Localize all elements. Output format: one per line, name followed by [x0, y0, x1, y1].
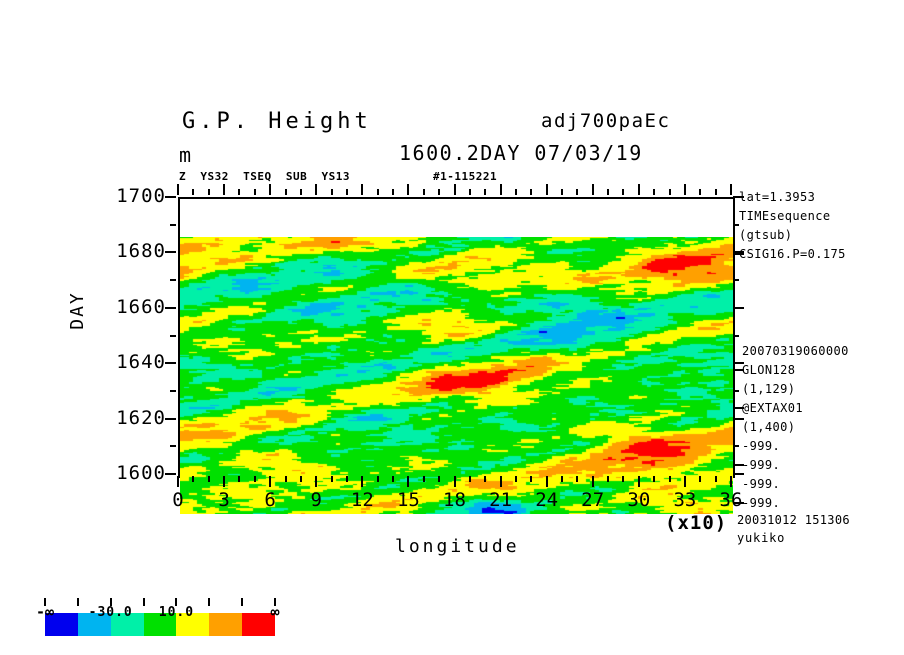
axis-tick [454, 476, 456, 487]
annotation-text: TIMEsequence [739, 209, 831, 223]
axis-tick [653, 476, 655, 482]
heatmap-plot-area [178, 197, 735, 478]
axis-tick [484, 189, 486, 195]
axis-tick [669, 476, 671, 482]
axis-tick [170, 390, 176, 392]
axis-tick [638, 476, 640, 487]
annotation-text: @EXTAX01 [742, 401, 803, 415]
chart-title-variable: G.P. Height [182, 109, 372, 134]
y-tick-label: 1700 [84, 185, 166, 207]
axis-tick [515, 476, 517, 482]
axis-tick [546, 184, 548, 195]
axis-tick [733, 335, 739, 337]
axis-tick [223, 184, 225, 195]
axis-tick [377, 476, 379, 482]
annotation-tick [733, 369, 744, 371]
colorbar-value-label: -30.0 [76, 605, 146, 620]
axis-tick [315, 184, 317, 195]
axis-tick [733, 445, 739, 447]
axis-tick [684, 184, 686, 195]
colorbar-right-infinity: ∞ [263, 603, 287, 621]
axis-tick [576, 476, 578, 482]
axis-tick [607, 189, 609, 195]
footer-timestamp: 20031012 151306 [737, 513, 850, 527]
axis-tick [530, 189, 532, 195]
y-tick-label: 1660 [84, 296, 166, 318]
axis-tick [684, 476, 686, 487]
axis-tick [622, 189, 624, 195]
axis-tick [300, 476, 302, 482]
axis-tick [438, 189, 440, 195]
axis-tick [285, 476, 287, 482]
heatmap-canvas [180, 237, 733, 514]
axis-tick [300, 189, 302, 195]
axis-tick [715, 476, 717, 482]
colorbar-tick [241, 598, 243, 606]
axis-tick [730, 184, 732, 195]
y-tick-label: 1620 [84, 407, 166, 429]
annotation-text: (gtsub) [739, 228, 792, 242]
annotation-tick [733, 196, 744, 198]
axis-tick [715, 189, 717, 195]
axis-tick [254, 189, 256, 195]
axis-tick [592, 476, 594, 487]
axis-tick [561, 189, 563, 195]
axis-tick [361, 184, 363, 195]
x-axis-title: longitude [395, 536, 520, 557]
axis-tick [407, 476, 409, 487]
axis-tick [392, 189, 394, 195]
axis-tick [285, 189, 287, 195]
footer-username: yukiko [737, 531, 785, 545]
axis-tick [315, 476, 317, 487]
y-tick-label: 1600 [84, 462, 166, 484]
axis-tick [346, 189, 348, 195]
annotation-text: (1,400) [742, 420, 795, 434]
axis-tick [331, 189, 333, 195]
axis-tick [699, 476, 701, 482]
chart-title-model: adj700paEc [541, 110, 670, 132]
axis-tick [500, 476, 502, 487]
axis-tick [346, 476, 348, 482]
y-tick-label: 1680 [84, 240, 166, 262]
axis-tick [165, 418, 176, 420]
axis-tick [208, 189, 210, 195]
annotation-text: -999. [742, 496, 780, 510]
axis-tick [170, 335, 176, 337]
axis-tick [576, 189, 578, 195]
axis-tick [331, 476, 333, 482]
axis-tick [733, 279, 739, 281]
axis-tick [438, 476, 440, 482]
axis-tick [454, 184, 456, 195]
x-axis-scale-note: (x10) [665, 512, 727, 534]
axis-tick [165, 251, 176, 253]
axis-tick [733, 473, 744, 475]
axis-tick [170, 279, 176, 281]
axis-tick [733, 307, 744, 309]
chart-timestep-label: 1600.2DAY 07/03/19 [399, 141, 643, 165]
axis-tick [165, 473, 176, 475]
annotation-tick [733, 253, 744, 255]
axis-tick [377, 189, 379, 195]
chart-units-label: m [179, 143, 192, 167]
annotation-text: GLON128 [742, 363, 795, 377]
annotation-text: CSIG16.P=0.175 [739, 247, 846, 261]
colorbar [45, 575, 275, 598]
axis-tick [592, 184, 594, 195]
annotation-text: 20070319060000 [742, 344, 849, 358]
axis-tick [730, 476, 732, 487]
annotation-text: lat=1.3953 [739, 190, 815, 204]
axis-tick [165, 362, 176, 364]
axis-tick [165, 307, 176, 309]
axis-tick [484, 476, 486, 482]
axis-tick [607, 476, 609, 482]
axis-tick [653, 189, 655, 195]
axis-tick [269, 476, 271, 487]
annotation-tick [733, 464, 744, 466]
axis-tick [192, 189, 194, 195]
colorbar-value-label: 10.0 [141, 605, 211, 620]
axis-tick [269, 184, 271, 195]
axis-tick [165, 196, 176, 198]
axis-tick [561, 476, 563, 482]
axis-tick [423, 189, 425, 195]
colorbar-swatch-5 [209, 613, 242, 636]
y-tick-label: 1640 [84, 351, 166, 373]
axis-tick [238, 189, 240, 195]
axis-tick [208, 476, 210, 482]
axis-tick [530, 476, 532, 482]
axis-tick [638, 184, 640, 195]
axis-tick [469, 189, 471, 195]
axis-tick [669, 189, 671, 195]
chart-subheader-left: Z YS32 TSEQ SUB YS13 [179, 170, 350, 183]
axis-tick [407, 184, 409, 195]
y-axis-title: DAY [67, 291, 88, 330]
axis-tick [546, 476, 548, 487]
axis-tick [733, 224, 739, 226]
axis-tick [515, 189, 517, 195]
annotation-text: -999. [742, 477, 780, 491]
colorbar-left-infinity: -∞ [33, 603, 57, 621]
axis-tick [469, 476, 471, 482]
axis-tick [238, 476, 240, 482]
annotation-text: -999. [742, 439, 780, 453]
annotation-tick [733, 502, 744, 504]
axis-tick [170, 224, 176, 226]
annotation-text: (1,129) [742, 382, 795, 396]
annotation-text: -999. [742, 458, 780, 472]
axis-tick [699, 189, 701, 195]
axis-tick [192, 476, 194, 482]
axis-tick [500, 184, 502, 195]
axis-tick [177, 476, 179, 487]
axis-tick [423, 476, 425, 482]
axis-tick [361, 476, 363, 487]
axis-tick [733, 390, 739, 392]
axis-tick [392, 476, 394, 482]
axis-tick [223, 476, 225, 487]
axis-tick [254, 476, 256, 482]
axis-tick [177, 184, 179, 195]
chart-subheader-right: #1-115221 [433, 170, 497, 183]
axis-tick [622, 476, 624, 482]
axis-tick [170, 445, 176, 447]
annotation-tick [733, 407, 744, 409]
